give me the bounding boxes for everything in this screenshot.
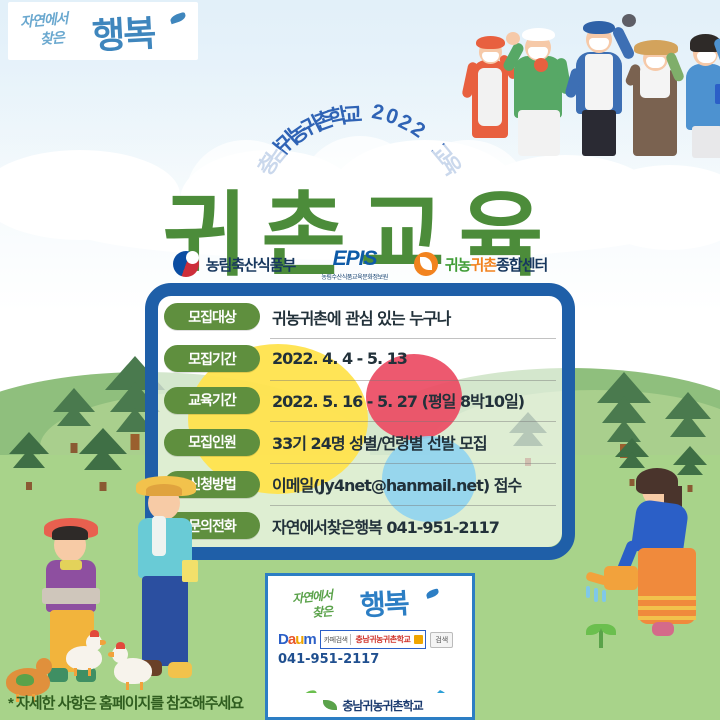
- logo-epis-sublabel: 농림수산식품교육문화정보원: [321, 272, 388, 281]
- card-school-name: 충남귀농귀촌학교: [342, 697, 422, 714]
- logo-rnrc-part-b: 귀촌: [470, 257, 496, 274]
- card-brand-line2: 찾은: [311, 602, 332, 620]
- person-4: [630, 38, 682, 160]
- daum-logo-m: m: [303, 631, 315, 648]
- card-brand-title: 행복: [359, 582, 409, 624]
- logo-mafra: 농림축산식품부: [173, 251, 296, 277]
- logo-rnrc-label: 귀농귀촌종합센터: [445, 254, 547, 275]
- pine-tree-icon: [8, 432, 50, 488]
- arc-title-char: 2: [369, 100, 384, 126]
- brand-title: 행복: [91, 4, 156, 59]
- brand-logo: 자연에서 찾은 행복: [8, 2, 198, 60]
- sprout-icon: [586, 622, 616, 648]
- contact-card: 자연에서 찾은 행복 Daum 카페검색 충남귀농귀촌학교 검색 041-951…: [265, 573, 475, 720]
- card-phone: 041-951-2117: [278, 652, 379, 667]
- footnote: * 자세한 사항은 홈페이지를 참조해주세요: [8, 692, 243, 713]
- daum-search-bar[interactable]: Daum 카페검색 충남귀농귀촌학교 검색: [278, 630, 453, 649]
- person-5: [682, 32, 720, 157]
- logo-rnrc-part-c: 종합센터: [496, 257, 547, 274]
- chicken-white-2: [110, 644, 156, 690]
- bird-icon: [169, 12, 187, 25]
- taegeuk-icon: [173, 251, 199, 277]
- leaf-icon: [323, 700, 337, 710]
- logo-epis: EPIS 농림수산식품교육문화정보원: [321, 247, 388, 281]
- search-keyword[interactable]: 충남귀농귀촌학교: [351, 634, 414, 645]
- search-go-icon[interactable]: [414, 635, 423, 644]
- logo-rnrc-part-a: 귀농: [445, 257, 471, 274]
- daum-logo-d: D: [278, 631, 288, 648]
- leaf-badge-icon: [414, 252, 438, 276]
- arc-title-char: 교: [342, 99, 362, 130]
- card-school-footer: 충남귀농귀촌학교: [268, 693, 475, 717]
- search-button[interactable]: 검색: [430, 632, 453, 648]
- search-input-box[interactable]: 카페검색 충남귀농귀촌학교: [320, 630, 427, 649]
- logo-epis-label: EPIS: [333, 247, 377, 271]
- person-3: [572, 18, 628, 158]
- daum-logo: Daum: [278, 631, 316, 648]
- search-category-label[interactable]: 카페검색: [321, 635, 351, 645]
- poster-root: 자연에서 찾은 행복: [0, 0, 720, 720]
- bird-icon: [425, 588, 440, 599]
- sponsor-logo-row: 농림축산식품부 EPIS 농림수산식품교육문화정보원 귀농귀촌종합센터: [0, 240, 720, 288]
- chicken-white-1: [62, 632, 106, 676]
- woman-watering: [612, 470, 708, 670]
- card-brand-logo: 자연에서 찾은 행복: [278, 582, 468, 624]
- brand-line2: 찾은: [39, 27, 64, 49]
- logo-rnrc: 귀농귀촌종합센터: [414, 252, 547, 276]
- logo-mafra-label: 농림축산식품부: [206, 254, 296, 275]
